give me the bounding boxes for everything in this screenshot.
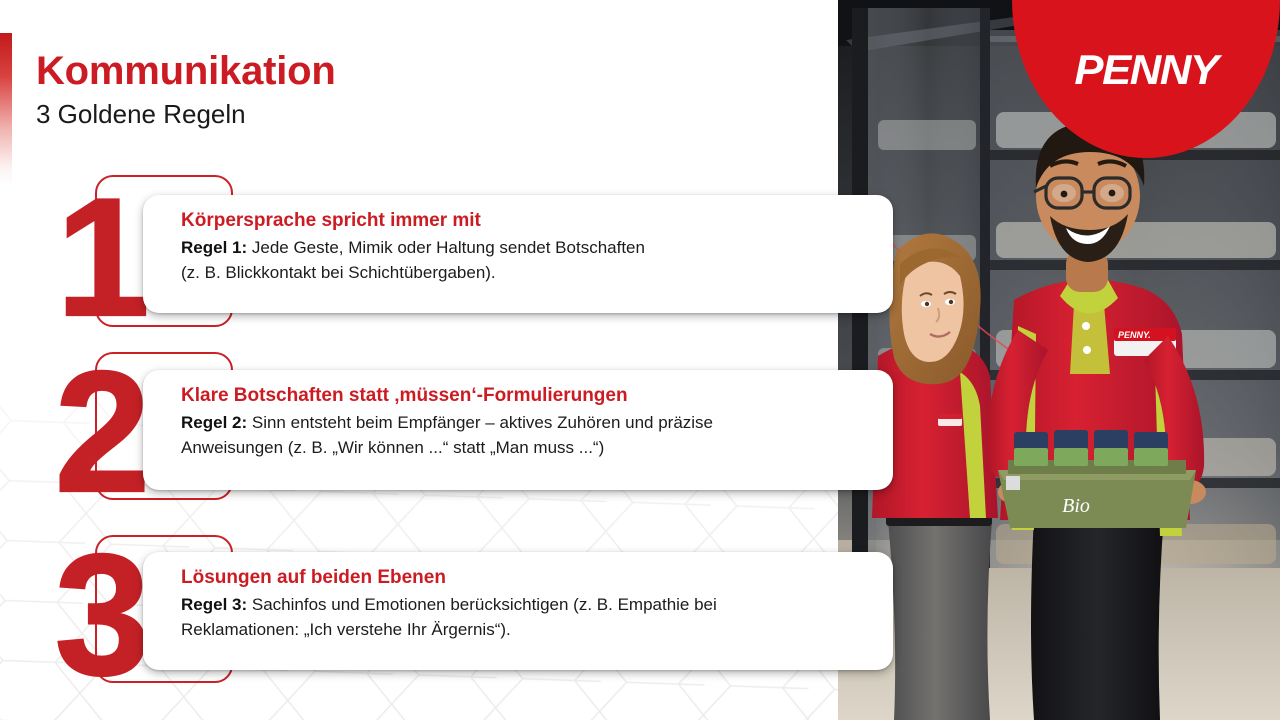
slide-canvas: Kommunikation 3 Goldene Regeln	[0, 0, 1280, 720]
rule-text-2a: Sinn entsteht beim Empfänger – aktives Z…	[247, 413, 713, 432]
rule-text-3b: Reklamationen: „Ich verstehe Ihr Ärgerni…	[181, 617, 875, 642]
rule-body-2: Regel 2: Sinn entsteht beim Empfänger – …	[181, 410, 875, 460]
rule-body-1: Regel 1: Jede Geste, Mimik oder Haltung …	[181, 235, 869, 285]
rule-label-3: Regel 3:	[181, 595, 247, 614]
rule-text-2b: Anweisungen (z. B. „Wir können ...“ stat…	[181, 435, 875, 460]
rule-label-1: Regel 1:	[181, 238, 247, 257]
bio-product-tray: Bio	[998, 430, 1196, 528]
svg-text:PENNY.: PENNY.	[1118, 330, 1151, 340]
rule-heading-3: Lösungen auf beiden Ebenen	[181, 566, 875, 590]
rule-text-1a: Jede Geste, Mimik oder Haltung sendet Bo…	[247, 238, 645, 257]
rule-card-1[interactable]: Körpersprache spricht immer mit Regel 1:…	[143, 195, 893, 313]
tray-label: Bio	[1062, 495, 1090, 517]
penny-wordmark: PENNY	[1012, 46, 1280, 94]
page-subtitle: 3 Goldene Regeln	[36, 98, 336, 130]
rule-card-3[interactable]: Lösungen auf beiden Ebenen Regel 3: Sach…	[143, 552, 893, 670]
left-accent-bar	[0, 33, 12, 185]
rule-text-1b: (z. B. Blickkontakt bei Schichtübergaben…	[181, 260, 869, 285]
rule-label-2: Regel 2:	[181, 413, 247, 432]
rule-body-3: Regel 3: Sachinfos und Emotionen berücks…	[181, 592, 875, 642]
rule-card-2[interactable]: Klare Botschaften statt ‚müssen‘-Formuli…	[143, 370, 893, 490]
page-title: Kommunikation	[36, 48, 336, 94]
rule-heading-1: Körpersprache spricht immer mit	[181, 209, 869, 233]
title-block: Kommunikation 3 Goldene Regeln	[36, 48, 336, 130]
rule-text-3a: Sachinfos und Emotionen berücksichtigen …	[247, 595, 717, 614]
rule-heading-2: Klare Botschaften statt ‚müssen‘-Formuli…	[181, 384, 875, 408]
